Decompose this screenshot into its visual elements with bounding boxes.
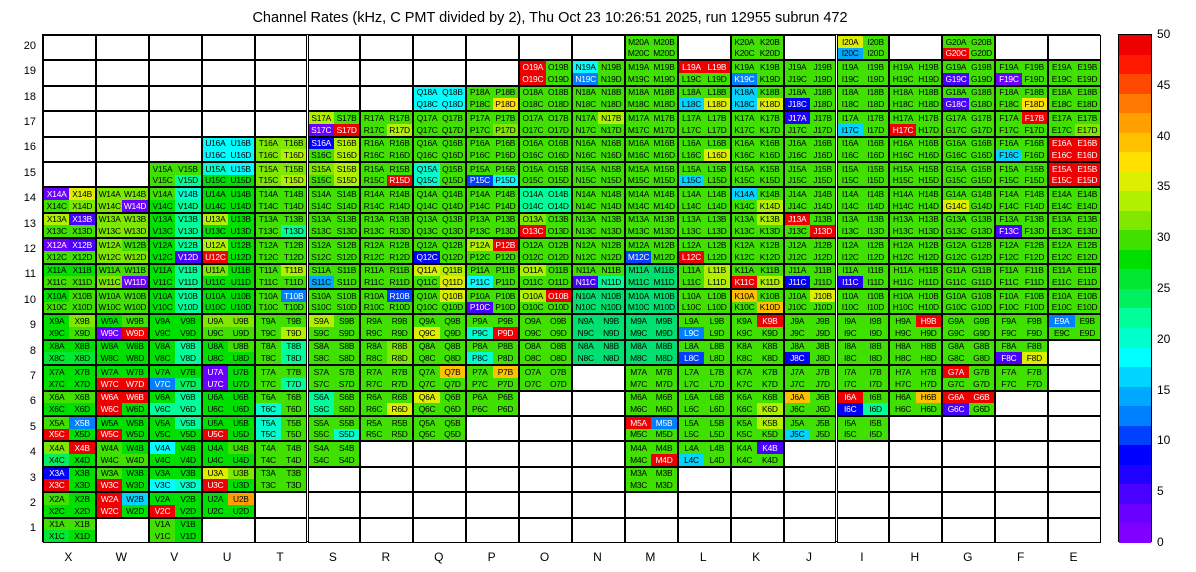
channel-F8A[interactable]: F8A [996,341,1021,353]
channel-O7B[interactable]: O7B [546,366,571,378]
channel-K6A[interactable]: K6A [732,392,757,404]
channel-Q8A[interactable]: Q8A [414,341,439,353]
channel-Q11B[interactable]: Q11B [440,265,465,277]
grid-cell-J12[interactable]: J12AJ12BJ12CJ12D [784,238,837,263]
channel-S9B[interactable]: S9B [334,315,359,327]
grid-cell-S16[interactable]: S16AS16BS16CS16D [308,137,361,162]
channel-K13D[interactable]: K13D [757,225,782,237]
channel-X14C[interactable]: X14C [44,200,69,212]
grid-cell-T4[interactable]: T4AT4BT4CT4D [255,441,308,466]
grid-cell-P15[interactable]: P15AP15BP15CP15D [466,162,519,187]
channel-U2D[interactable]: U2D [228,505,253,517]
channel-T4B[interactable]: T4B [281,442,306,454]
channel-Q6B[interactable]: Q6B [440,392,465,404]
channel-N16A[interactable]: N16A [573,138,598,150]
grid-cell-F3[interactable] [995,467,1048,492]
channel-O8A[interactable]: O8A [520,341,545,353]
grid-cell-P2[interactable] [466,492,519,517]
channel-O8B[interactable]: O8B [546,341,571,353]
grid-cell-L1[interactable] [678,518,731,543]
channel-P15D[interactable]: P15D [493,175,518,187]
channel-R13C[interactable]: R13C [361,225,386,237]
channel-K17A[interactable]: K17A [732,112,757,124]
grid-cell-H17[interactable]: H17AH17BH17CH17D [889,111,942,136]
channel-Q5B[interactable]: Q5B [440,417,465,429]
channel-R11A[interactable]: R11A [361,265,386,277]
channel-P13A[interactable]: P13A [467,214,492,226]
channel-H10D[interactable]: H10D [916,302,941,314]
channel-M5D[interactable]: M5D [651,429,676,441]
grid-cell-I1[interactable] [837,518,890,543]
channel-I20D[interactable]: I20D [863,48,888,60]
channel-Q17A[interactable]: Q17A [414,112,439,124]
channel-E11D[interactable]: E11D [1075,276,1100,288]
channel-S7A[interactable]: S7A [309,366,334,378]
channel-T6A[interactable]: T6A [256,392,281,404]
channel-O19D[interactable]: O19D [546,73,571,85]
channel-R17B[interactable]: R17B [387,112,412,124]
channel-X12A[interactable]: X12A [44,239,69,251]
channel-L10D[interactable]: L10D [704,302,729,314]
grid-cell-K11[interactable]: K11AK11BK11CK11D [731,264,784,289]
channel-G8A[interactable]: G8A [943,341,968,353]
grid-cell-P16[interactable]: P16AP16BP16CP16D [466,137,519,162]
grid-cell-Q5[interactable]: Q5AQ5BQ5CQ5D [413,416,466,441]
channel-J15B[interactable]: J15B [810,163,835,175]
channel-S16C[interactable]: S16C [309,149,334,161]
channel-T8A[interactable]: T8A [256,341,281,353]
channel-F17D[interactable]: F17D [1022,124,1047,136]
channel-F8D[interactable]: F8D [1022,352,1047,364]
channel-P10B[interactable]: P10B [493,290,518,302]
channel-E12A[interactable]: E12A [1049,239,1074,251]
grid-cell-J13[interactable]: J13AJ13BJ13CJ13D [784,213,837,238]
grid-cell-W15[interactable] [96,162,149,187]
channel-X14D[interactable]: X14D [69,200,94,212]
channel-K14A[interactable]: K14A [732,188,757,200]
channel-N12A[interactable]: N12A [573,239,598,251]
channel-U5A[interactable]: U5A [203,417,228,429]
channel-K12A[interactable]: K12A [732,239,757,251]
channel-J12C[interactable]: J12C [785,251,810,263]
grid-cell-I12[interactable]: I12AI12BI12CI12D [837,238,890,263]
grid-cell-E10[interactable]: E10AE10BE10CE10D [1048,289,1101,314]
channel-L14B[interactable]: L14B [704,188,729,200]
channel-I6B[interactable]: I6B [863,392,888,404]
grid-cell-T17[interactable] [255,111,308,136]
grid-cell-H5[interactable] [889,416,942,441]
grid-cell-N15[interactable]: N15AN15BN15CN15D [572,162,625,187]
channel-T9D[interactable]: T9D [281,327,306,339]
grid-cell-H13[interactable]: H13AH13BH13CH13D [889,213,942,238]
channel-U4D[interactable]: U4D [228,454,253,466]
channel-S17C[interactable]: S17C [309,124,334,136]
channel-S13C[interactable]: S13C [309,225,334,237]
channel-M10B[interactable]: M10B [651,290,676,302]
grid-cell-U14[interactable]: U14AU14BU14CU14D [202,187,255,212]
grid-cell-M15[interactable]: M15AM15BM15CM15D [625,162,678,187]
channel-I7A[interactable]: I7A [838,366,863,378]
channel-L9C[interactable]: L9C [679,327,704,339]
grid-cell-K18[interactable]: K18AK18BK18CK18D [731,86,784,111]
grid-cell-O8[interactable]: O8AO8BO8CO8D [519,340,572,365]
channel-K15B[interactable]: K15B [757,163,782,175]
channel-I20C[interactable]: I20C [838,48,863,60]
grid-cell-F13[interactable]: F13AF13BF13CF13D [995,213,1048,238]
channel-T11C[interactable]: T11C [256,276,281,288]
channel-R15D[interactable]: R15D [387,175,412,187]
channel-R17D[interactable]: R17D [387,124,412,136]
channel-H7A[interactable]: H7A [890,366,915,378]
grid-cell-W18[interactable] [96,86,149,111]
channel-L10A[interactable]: L10A [679,290,704,302]
channel-Q9A[interactable]: Q9A [414,315,439,327]
grid-cell-T12[interactable]: T12AT12BT12CT12D [255,238,308,263]
channel-R12B[interactable]: R12B [387,239,412,251]
grid-cell-H16[interactable]: H16AH16BH16CH16D [889,137,942,162]
channel-T7C[interactable]: T7C [256,378,281,390]
channel-V5A[interactable]: V5A [150,417,175,429]
channel-H18D[interactable]: H18D [916,98,941,110]
grid-cell-K5[interactable]: K5AK5BK5CK5D [731,416,784,441]
channel-V10C[interactable]: V10C [150,302,175,314]
channel-Q7B[interactable]: Q7B [440,366,465,378]
grid-cell-S2[interactable] [308,492,361,517]
channel-E17C[interactable]: E17C [1049,124,1074,136]
channel-I13D[interactable]: I13D [863,225,888,237]
channel-X4C[interactable]: X4C [44,454,69,466]
channel-R9B[interactable]: R9B [387,315,412,327]
grid-cell-H7[interactable]: H7AH7BH7CH7D [889,365,942,390]
channel-G14B[interactable]: G14B [969,188,994,200]
channel-X6B[interactable]: X6B [69,392,94,404]
channel-V15D[interactable]: V15D [175,175,200,187]
channel-H19D[interactable]: H19D [916,73,941,85]
channel-J16A[interactable]: J16A [785,138,810,150]
channel-X7D[interactable]: X7D [69,378,94,390]
grid-cell-K8[interactable]: K8AK8BK8CK8D [731,340,784,365]
channel-O17A[interactable]: O17A [520,112,545,124]
channel-rate-heatmap[interactable]: X14AX14BX14CX14DX13AX13BX13CX13DX12AX12B… [42,34,1100,542]
grid-cell-M10[interactable]: M10AM10BM10CM10D [625,289,678,314]
channel-W7C[interactable]: W7C [97,378,122,390]
grid-cell-Q11[interactable]: Q11AQ11BQ11CQ11D [413,264,466,289]
channel-L4D[interactable]: L4D [704,454,729,466]
channel-X9C[interactable]: X9C [44,327,69,339]
channel-E18A[interactable]: E18A [1049,87,1074,99]
grid-cell-N5[interactable] [572,416,625,441]
channel-K14C[interactable]: K14C [732,200,757,212]
grid-cell-O10[interactable]: O10AO10BO10CO10D [519,289,572,314]
channel-R9D[interactable]: R9D [387,327,412,339]
grid-cell-O4[interactable] [519,441,572,466]
channel-U9A[interactable]: U9A [203,315,228,327]
channel-K9C[interactable]: K9C [732,327,757,339]
grid-cell-Q6[interactable]: Q6AQ6BQ6CQ6D [413,391,466,416]
grid-cell-S8[interactable]: S8AS8BS8CS8D [308,340,361,365]
grid-cell-G6[interactable]: G6AG6BG6CG6D [942,391,995,416]
channel-K13B[interactable]: K13B [757,214,782,226]
channel-F9B[interactable]: F9B [1022,315,1047,327]
grid-cell-T9[interactable]: T9AT9BT9CT9D [255,314,308,339]
channel-V3A[interactable]: V3A [150,468,175,480]
channel-N14C[interactable]: N14C [573,200,598,212]
channel-O14A[interactable]: O14A [520,188,545,200]
channel-K8C[interactable]: K8C [732,352,757,364]
channel-U7A[interactable]: U7A [203,366,228,378]
channel-X3A[interactable]: X3A [44,468,69,480]
channel-K4A[interactable]: K4A [732,442,757,454]
grid-cell-N1[interactable] [572,518,625,543]
channel-E19A[interactable]: E19A [1049,61,1074,73]
grid-cell-J7[interactable]: J7AJ7BJ7CJ7D [784,365,837,390]
grid-cell-L8[interactable]: L8AL8BL8CL8D [678,340,731,365]
channel-U15B[interactable]: U15B [228,163,253,175]
channel-T7D[interactable]: T7D [281,378,306,390]
channel-F14B[interactable]: F14B [1022,188,1047,200]
channel-W6A[interactable]: W6A [97,392,122,404]
grid-cell-W16[interactable] [96,137,149,162]
channel-I14D[interactable]: I14D [863,200,888,212]
channel-S17D[interactable]: S17D [334,124,359,136]
channel-P16D[interactable]: P16D [493,149,518,161]
grid-cell-K4[interactable]: K4AK4BK4CK4D [731,441,784,466]
grid-cell-S13[interactable]: S13AS13BS13CS13D [308,213,361,238]
channel-O12B[interactable]: O12B [546,239,571,251]
channel-M19D[interactable]: M19D [651,73,676,85]
grid-cell-E13[interactable]: E13AE13BE13CE13D [1048,213,1101,238]
channel-I16B[interactable]: I16B [863,138,888,150]
channel-H15A[interactable]: H15A [890,163,915,175]
channel-L16A[interactable]: L16A [679,138,704,150]
channel-S17B[interactable]: S17B [334,112,359,124]
channel-T14D[interactable]: T14D [281,200,306,212]
grid-cell-S4[interactable]: S4AS4BS4CS4D [308,441,361,466]
channel-I15B[interactable]: I15B [863,163,888,175]
grid-cell-K9[interactable]: K9AK9BK9CK9D [731,314,784,339]
grid-cell-S17[interactable]: S17AS17BS17CS17D [308,111,361,136]
channel-U4B[interactable]: U4B [228,442,253,454]
channel-T7A[interactable]: T7A [256,366,281,378]
channel-O17D[interactable]: O17D [546,124,571,136]
channel-M4B[interactable]: M4B [651,442,676,454]
channel-S5B[interactable]: S5B [334,417,359,429]
grid-cell-Q14[interactable]: Q14AQ14BQ14CQ14D [413,187,466,212]
channel-E17D[interactable]: E17D [1075,124,1100,136]
channel-W11D[interactable]: W11D [122,276,147,288]
grid-cell-I17[interactable]: I17AI17BI17CI17D [837,111,890,136]
grid-cell-N12[interactable]: N12AN12BN12CN12D [572,238,625,263]
channel-J12A[interactable]: J12A [785,239,810,251]
channel-R10A[interactable]: R10A [361,290,386,302]
channel-J11D[interactable]: J11D [810,276,835,288]
channel-F18B[interactable]: F18B [1022,87,1047,99]
channel-T10C[interactable]: T10C [256,302,281,314]
channel-Q9B[interactable]: Q9B [440,315,465,327]
channel-I14C[interactable]: I14C [838,200,863,212]
channel-X12B[interactable]: X12B [69,239,94,251]
channel-F11A[interactable]: F11A [996,265,1021,277]
channel-E13B[interactable]: E13B [1075,214,1100,226]
grid-cell-E20[interactable] [1048,35,1101,60]
channel-I10B[interactable]: I10B [863,290,888,302]
channel-U16B[interactable]: U16B [228,138,253,150]
channel-K4B[interactable]: K4B [757,442,782,454]
channel-W14B[interactable]: W14B [122,188,147,200]
channel-T7B[interactable]: T7B [281,366,306,378]
channel-U12D[interactable]: U12D [228,251,253,263]
channel-U8B[interactable]: U8B [228,341,253,353]
grid-cell-I15[interactable]: I15AI15BI15CI15D [837,162,890,187]
channel-X3C[interactable]: X3C [44,479,69,491]
channel-V5C[interactable]: V5C [150,429,175,441]
channel-V6B[interactable]: V6B [175,392,200,404]
channel-U2B[interactable]: U2B [228,493,253,505]
channel-R10D[interactable]: R10D [387,302,412,314]
grid-cell-R14[interactable]: R14AR14BR14CR14D [360,187,413,212]
grid-cell-K19[interactable]: K19AK19BK19CK19D [731,60,784,85]
channel-J19D[interactable]: J19D [810,73,835,85]
channel-U6B[interactable]: U6B [228,392,253,404]
channel-L18A[interactable]: L18A [679,87,704,99]
channel-N11A[interactable]: N11A [573,265,598,277]
channel-N9C[interactable]: N9C [573,327,598,339]
channel-W14D[interactable]: W14D [122,200,147,212]
channel-S13B[interactable]: S13B [334,214,359,226]
channel-M17B[interactable]: M17B [651,112,676,124]
grid-cell-G7[interactable]: G7AG7BG7CG7D [942,365,995,390]
grid-cell-N14[interactable]: N14AN14BN14CN14D [572,187,625,212]
grid-cell-G19[interactable]: G19AG19BG19CG19D [942,60,995,85]
channel-N10A[interactable]: N10A [573,290,598,302]
grid-cell-J4[interactable] [784,441,837,466]
channel-M19C[interactable]: M19C [626,73,651,85]
grid-cell-N9[interactable]: N9AN9BN9CN9D [572,314,625,339]
channel-U11B[interactable]: U11B [228,265,253,277]
channel-I5C[interactable]: I5C [838,429,863,441]
channel-O16D[interactable]: O16D [546,149,571,161]
channel-G10B[interactable]: G10B [969,290,994,302]
channel-G7D[interactable]: G7D [969,378,994,390]
channel-E10C[interactable]: E10C [1049,302,1074,314]
channel-G16C[interactable]: G16C [943,149,968,161]
channel-O11C[interactable]: O11C [520,276,545,288]
channel-Q11D[interactable]: Q11D [440,276,465,288]
channel-W9A[interactable]: W9A [97,315,122,327]
channel-H8B[interactable]: H8B [916,341,941,353]
channel-S16A[interactable]: S16A [309,138,334,150]
grid-cell-L5[interactable]: L5AL5BL5CL5D [678,416,731,441]
channel-J13D[interactable]: J13D [810,225,835,237]
channel-O13D[interactable]: O13D [546,225,571,237]
channel-J7A[interactable]: J7A [785,366,810,378]
grid-cell-E2[interactable] [1048,492,1101,517]
channel-T3B[interactable]: T3B [281,468,306,480]
channel-E16B[interactable]: E16B [1075,138,1100,150]
grid-cell-X8[interactable]: X8AX8BX8CX8D [43,340,96,365]
grid-cell-R10[interactable]: R10AR10BR10CR10D [360,289,413,314]
grid-cell-R18[interactable] [360,86,413,111]
grid-cell-J15[interactable]: J15AJ15BJ15CJ15D [784,162,837,187]
channel-Q8D[interactable]: Q8D [440,352,465,364]
channel-S13A[interactable]: S13A [309,214,334,226]
channel-O11D[interactable]: O11D [546,276,571,288]
channel-L9A[interactable]: L9A [679,315,704,327]
channel-H10C[interactable]: H10C [890,302,915,314]
channel-F14A[interactable]: F14A [996,188,1021,200]
grid-cell-E12[interactable]: E12AE12BE12CE12D [1048,238,1101,263]
channel-S8C[interactable]: S8C [309,352,334,364]
channel-N17B[interactable]: N17B [598,112,623,124]
channel-P18B[interactable]: P18B [493,87,518,99]
channel-H13D[interactable]: H13D [916,225,941,237]
channel-Q12C[interactable]: Q12C [414,251,439,263]
channel-H12C[interactable]: H12C [890,251,915,263]
channel-M11A[interactable]: M11A [626,265,651,277]
channel-U10D[interactable]: U10D [228,302,253,314]
channel-L5A[interactable]: L5A [679,417,704,429]
grid-cell-Q4[interactable] [413,441,466,466]
channel-E14C[interactable]: E14C [1049,200,1074,212]
channel-M14B[interactable]: M14B [651,188,676,200]
grid-cell-O7[interactable]: O7AO7BO7CO7D [519,365,572,390]
channel-S5A[interactable]: S5A [309,417,334,429]
channel-P17B[interactable]: P17B [493,112,518,124]
channel-O7C[interactable]: O7C [520,378,545,390]
channel-L11D[interactable]: L11D [704,276,729,288]
channel-L5B[interactable]: L5B [704,417,729,429]
channel-G13A[interactable]: G13A [943,214,968,226]
channel-V8C[interactable]: V8C [150,352,175,364]
grid-cell-J16[interactable]: J16AJ16BJ16CJ16D [784,137,837,162]
channel-G20B[interactable]: G20B [969,36,994,48]
channel-G16B[interactable]: G16B [969,138,994,150]
channel-F10A[interactable]: F10A [996,290,1021,302]
channel-F7B[interactable]: F7B [1022,366,1047,378]
channel-H19A[interactable]: H19A [890,61,915,73]
channel-U13B[interactable]: U13B [228,214,253,226]
grid-cell-M17[interactable]: M17AM17BM17CM17D [625,111,678,136]
grid-cell-O1[interactable] [519,518,572,543]
channel-L13B[interactable]: L13B [704,214,729,226]
channel-O15A[interactable]: O15A [520,163,545,175]
channel-L18C[interactable]: L18C [679,98,704,110]
channel-M13D[interactable]: M13D [651,225,676,237]
channel-N11B[interactable]: N11B [598,265,623,277]
grid-cell-H10[interactable]: H10AH10BH10CH10D [889,289,942,314]
channel-F10D[interactable]: F10D [1022,302,1047,314]
channel-K16A[interactable]: K16A [732,138,757,150]
channel-E11A[interactable]: E11A [1049,265,1074,277]
grid-cell-Q10[interactable]: Q10AQ10BQ10CQ10D [413,289,466,314]
grid-cell-K16[interactable]: K16AK16BK16CK16D [731,137,784,162]
channel-T3C[interactable]: T3C [256,479,281,491]
channel-S16D[interactable]: S16D [334,149,359,161]
channel-W13C[interactable]: W13C [97,225,122,237]
channel-L13D[interactable]: L13D [704,225,729,237]
channel-H15B[interactable]: H15B [916,163,941,175]
channel-O7A[interactable]: O7A [520,366,545,378]
channel-M5B[interactable]: M5B [651,417,676,429]
channel-G11A[interactable]: G11A [943,265,968,277]
grid-cell-G2[interactable] [942,492,995,517]
channel-F11B[interactable]: F11B [1022,265,1047,277]
channel-N18D[interactable]: N18D [598,98,623,110]
channel-J7B[interactable]: J7B [810,366,835,378]
channel-X10A[interactable]: X10A [44,290,69,302]
channel-U5D[interactable]: U5D [228,429,253,441]
channel-N18A[interactable]: N18A [573,87,598,99]
